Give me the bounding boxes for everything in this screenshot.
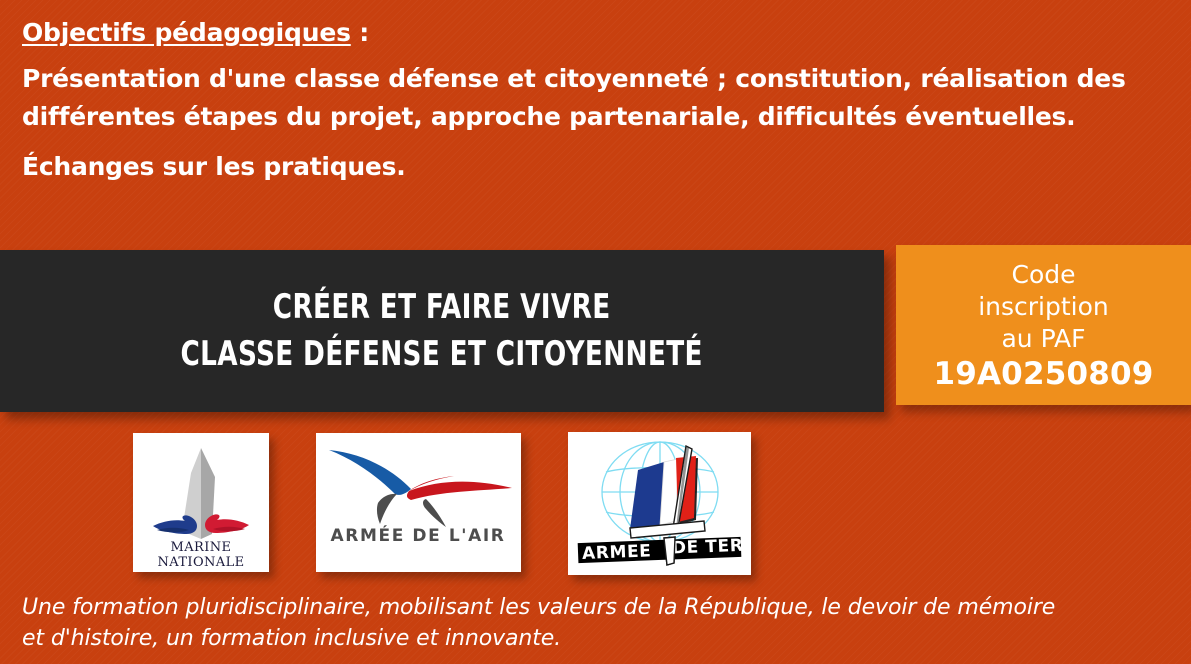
logo-marine-nationale: MARINE NATIONALE (133, 433, 269, 572)
footer-line-2: et d'histoire, un formation inclusive et… (22, 623, 1172, 654)
objectives-heading: Objectifs pédagogiques : (22, 16, 1162, 50)
title-line-1: CRÉER ET FAIRE VIVRE (181, 284, 703, 331)
registration-code-box: Code inscription au PAF 19A0250809 (896, 245, 1191, 405)
logo-armee-de-terre: ARMEE DE TERRE (568, 432, 751, 575)
code-value: 19A0250809 (933, 355, 1153, 393)
logo-armee-de-l-air: ARMÉE DE L'AIR (316, 433, 521, 572)
code-label-line-2: inscription (978, 291, 1109, 323)
air-label: ARMÉE DE L'AIR (331, 524, 506, 546)
code-label-line-1: Code (1011, 259, 1075, 291)
footer-caption: Une formation pluridisciplinaire, mobili… (22, 592, 1172, 654)
objectives-block: Objectifs pédagogiques : Présentation d'… (22, 16, 1162, 194)
armee-de-l-air-icon: ARMÉE DE L'AIR (316, 433, 521, 572)
terre-label-left: ARMEE (582, 541, 652, 564)
title-banner: CRÉER ET FAIRE VIVRE CLASSE DÉFENSE ET C… (0, 250, 884, 412)
objectives-paragraph-2: Échanges sur les pratiques. (22, 148, 1147, 186)
slide-root: Objectifs pédagogiques : Présentation d'… (0, 0, 1191, 664)
armee-de-terre-icon: ARMEE DE TERRE (568, 432, 751, 575)
title-banner-text: CRÉER ET FAIRE VIVRE CLASSE DÉFENSE ET C… (181, 284, 703, 378)
terre-label-right: DE TERRE (672, 535, 751, 559)
objectives-paragraph-1: Présentation d'une classe défense et cit… (22, 60, 1147, 136)
marine-nationale-icon: MARINE NATIONALE (133, 433, 269, 572)
footer-line-1: Une formation pluridisciplinaire, mobili… (22, 592, 1172, 623)
marine-label-line-1: MARINE (171, 540, 232, 555)
code-label-line-3: au PAF (1001, 323, 1085, 355)
marine-label-line-2: NATIONALE (157, 555, 244, 570)
title-line-2: CLASSE DÉFENSE ET CITOYENNETÉ (181, 331, 703, 378)
objectives-heading-label: Objectifs pédagogiques (22, 18, 351, 47)
objectives-heading-colon: : (351, 18, 369, 47)
